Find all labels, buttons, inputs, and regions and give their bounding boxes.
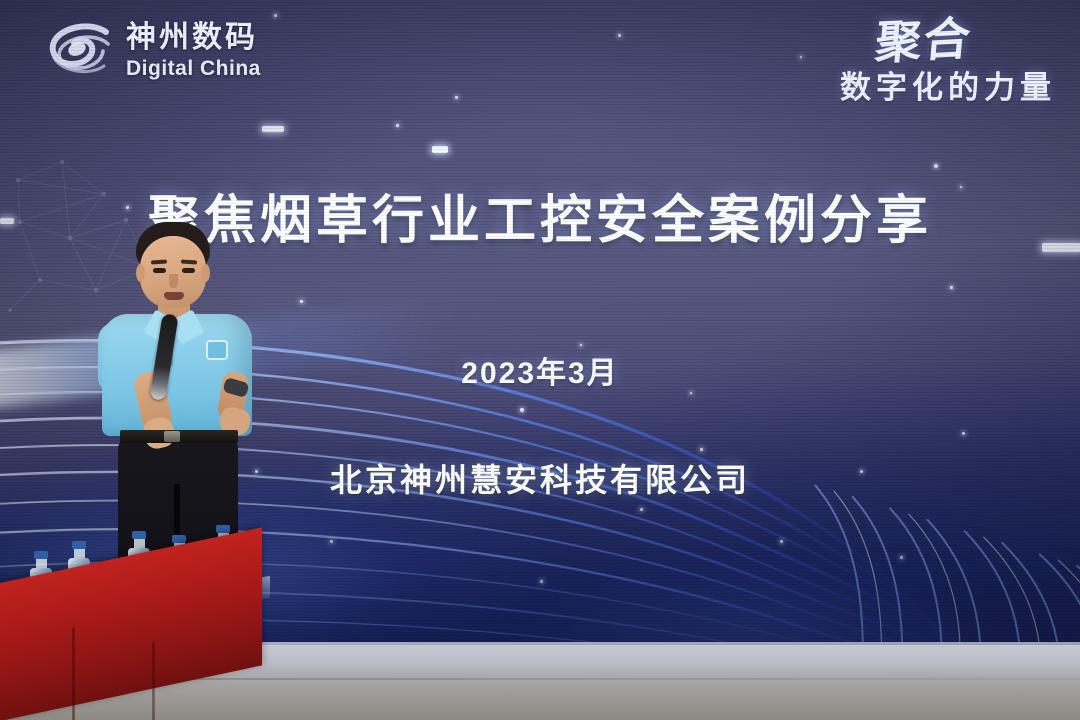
theme-subtitle: 数字化的力量 — [840, 62, 1056, 107]
bottle-cap — [34, 551, 48, 559]
tablecloth-fold — [152, 641, 155, 720]
speaker-nose — [169, 274, 178, 288]
speaker-belt-buckle — [164, 431, 180, 442]
bottle-cap — [172, 535, 186, 543]
speaker-chest-badge — [206, 340, 228, 360]
spiral-logo-icon — [46, 20, 114, 82]
speaker-ear-right — [201, 264, 210, 282]
bottle-neck — [36, 559, 47, 568]
speaker-eye-left — [153, 268, 166, 273]
logo-wordmark: 神州数码 Digital China — [126, 23, 261, 79]
tablecloth-fold — [72, 627, 75, 720]
bottle-cap — [216, 525, 230, 533]
digital-china-logo: 神州数码 Digital China — [46, 20, 261, 82]
logo-chinese-name: 神州数码 — [126, 23, 261, 53]
bottle-neck — [74, 549, 85, 558]
bottle-cap — [132, 531, 146, 539]
speaker-ear-left — [136, 264, 145, 282]
bottle-cap — [72, 541, 86, 549]
theme-calligraphy: 聚合 — [839, 18, 974, 67]
event-theme-lockup: 聚合 数字化的力量 — [840, 18, 1056, 107]
logo-english-name: Digital China — [126, 58, 261, 79]
speaker-mouth — [164, 292, 184, 300]
conference-stage-photo: 神州数码 Digital China 聚合 数字化的力量 聚焦烟草行业工控安全案… — [0, 0, 1080, 720]
bottle-neck — [134, 539, 145, 548]
speaker-eye-right — [182, 268, 195, 273]
